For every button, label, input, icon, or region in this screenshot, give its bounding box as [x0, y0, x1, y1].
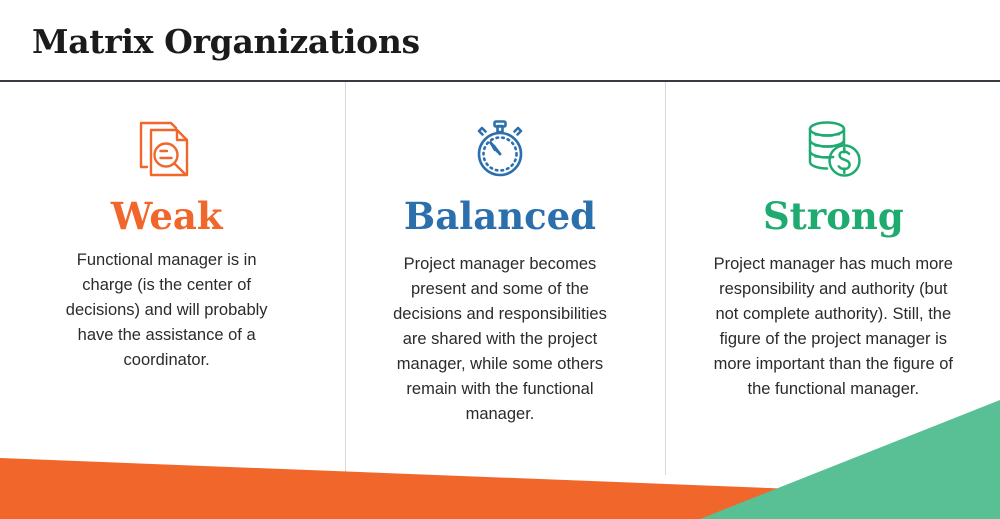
column-weak: Weak Functional manager is in charge (is…	[0, 82, 333, 519]
column-balanced: Balanced Project manager becomes present…	[333, 82, 666, 519]
slide-canvas: Matrix Organizations	[0, 0, 1000, 519]
column-body-weak: Functional manager is in charge (is the …	[53, 248, 281, 373]
page-title: Matrix Organizations	[32, 22, 420, 62]
column-heading-strong: Strong	[763, 194, 904, 238]
stopwatch-icon	[461, 110, 539, 188]
column-body-strong: Project manager has much more responsibi…	[713, 252, 953, 402]
column-heading-balanced: Balanced	[404, 194, 596, 238]
column-strong: Strong Project manager has much more res…	[667, 82, 1000, 519]
columns-container: Weak Functional manager is in charge (is…	[0, 82, 1000, 519]
column-heading-weak: Weak	[111, 194, 223, 238]
coin-stack-dollar-icon	[794, 110, 872, 188]
column-body-balanced: Project manager becomes present and some…	[379, 252, 621, 427]
title-bar: Matrix Organizations	[0, 0, 1000, 80]
documents-magnifier-icon	[128, 110, 206, 188]
